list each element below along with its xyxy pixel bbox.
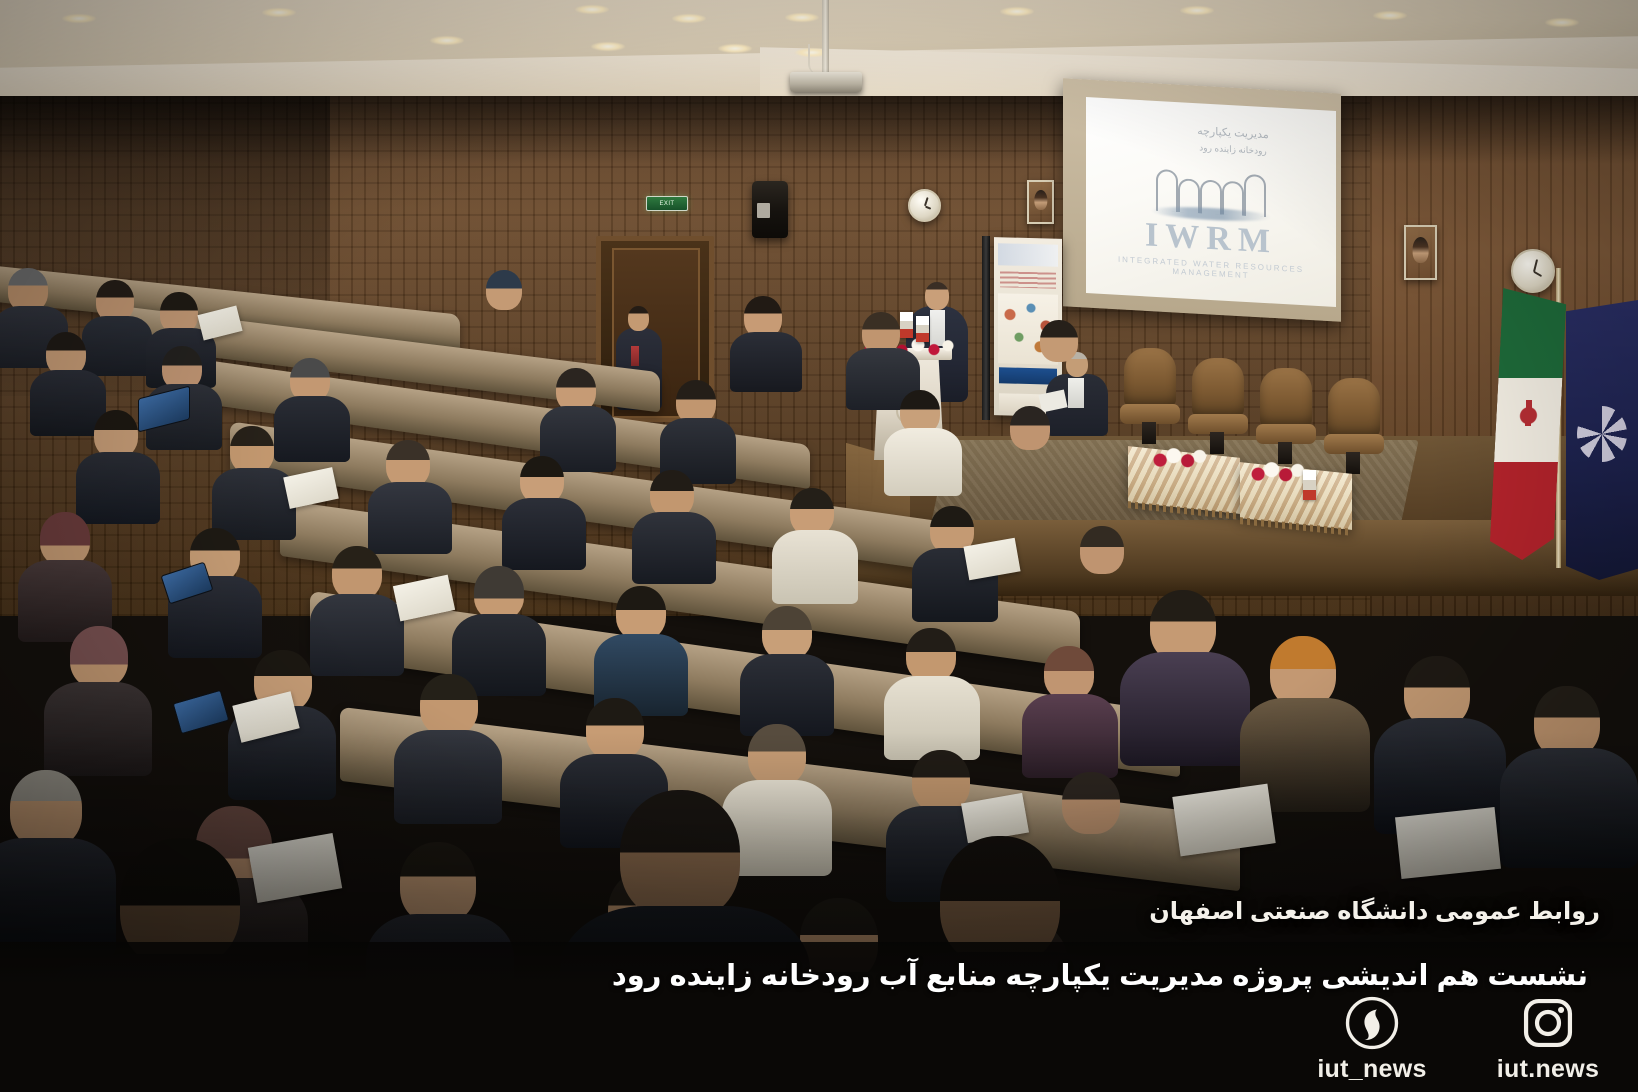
social-item-soroush[interactable]: iut_news xyxy=(1312,996,1432,1084)
iut-university-flag xyxy=(1566,300,1638,580)
audience-paper xyxy=(1172,784,1275,857)
audience-head xyxy=(400,842,476,924)
audience-head xyxy=(906,628,956,682)
social-item-instagram[interactable]: iut.news xyxy=(1488,996,1608,1084)
audience-body xyxy=(310,594,404,676)
soroush-icon[interactable] xyxy=(1345,996,1399,1050)
audience-body xyxy=(632,512,716,584)
audience-head-hijab xyxy=(70,626,128,688)
audience-head xyxy=(1080,526,1124,574)
audience-body xyxy=(730,332,802,392)
framed-portrait xyxy=(1404,225,1437,280)
downlight-icon xyxy=(62,14,96,23)
stage-chair xyxy=(1322,378,1386,474)
audience-head xyxy=(616,586,666,640)
audience-body xyxy=(1120,652,1250,766)
audience-body xyxy=(1500,748,1638,868)
audience-head xyxy=(1062,772,1120,834)
social-handles: iut_news iut.news xyxy=(1312,996,1608,1084)
audience-head xyxy=(762,606,812,660)
audience-body xyxy=(368,482,452,554)
audience-head xyxy=(1044,646,1094,700)
caption-bar: نشست هم اندیشی پروژه مدیریت یکپارچه مناب… xyxy=(0,942,1638,1092)
audience-head xyxy=(1010,406,1050,450)
audience-body xyxy=(1022,694,1118,778)
audience-head xyxy=(620,790,740,920)
audience-head xyxy=(790,488,834,536)
downlight-icon xyxy=(1373,11,1407,20)
downlight-icon xyxy=(1180,6,1214,15)
downlight-icon xyxy=(1545,18,1579,27)
audience-body xyxy=(0,838,116,958)
exit-sign: EXIT xyxy=(646,196,688,211)
audience-paper xyxy=(963,538,1020,581)
audience-body xyxy=(884,428,962,496)
photo-credit: روابط عمومی دانشگاه صنعتی اصفهان xyxy=(1149,897,1600,926)
framed-portrait xyxy=(1027,180,1054,224)
audience-body xyxy=(740,654,834,736)
audience-head xyxy=(486,270,522,310)
audience-body xyxy=(884,676,980,760)
audience-head xyxy=(10,770,82,848)
audience-head xyxy=(94,410,138,458)
audience-head xyxy=(1040,320,1078,362)
downlight-icon xyxy=(430,36,464,45)
wall-clock-icon xyxy=(908,189,941,222)
audience-body xyxy=(44,682,152,776)
ceiling-projector-icon xyxy=(790,72,862,92)
downlight-icon xyxy=(1000,7,1034,16)
audience-body xyxy=(82,316,152,376)
audience-head-hijab xyxy=(474,566,524,620)
downlight-icon xyxy=(575,5,609,14)
conference-photograph: EXIT مدیریت یکپارچه رودخانه زاینده رود xyxy=(0,0,1638,1092)
wall-speaker-icon xyxy=(752,181,788,238)
caption-headline: نشست هم اندیشی پروژه مدیریت یکپارچه مناب… xyxy=(612,958,1588,993)
audience-body xyxy=(76,452,160,524)
audience-body xyxy=(772,530,858,604)
downlight-icon xyxy=(718,44,752,53)
audience-body xyxy=(502,498,586,570)
stage-chair xyxy=(1186,358,1250,454)
audience-head xyxy=(386,440,430,488)
instagram-icon[interactable] xyxy=(1521,996,1575,1050)
audience-head xyxy=(586,698,644,760)
audience-head-hijab xyxy=(40,512,90,566)
audience-head xyxy=(748,724,806,786)
downlight-icon xyxy=(785,13,819,22)
downlight-icon xyxy=(262,8,296,17)
table-flag xyxy=(1303,470,1316,500)
wall-clock-icon xyxy=(1511,249,1555,293)
table-flower-arrangement xyxy=(1250,462,1304,484)
projector-cable xyxy=(808,44,822,74)
stage-chair xyxy=(1254,368,1318,464)
audience-paper xyxy=(1395,807,1501,879)
audience-head xyxy=(650,470,694,518)
audience-head xyxy=(230,426,274,474)
screenshot-root: EXIT مدیریت یکپارچه رودخانه زاینده رود xyxy=(0,0,1638,1092)
social-handle-soroush[interactable]: iut_news xyxy=(1317,1055,1426,1084)
audience-head xyxy=(420,674,478,736)
downlight-icon xyxy=(591,42,625,51)
audience-head xyxy=(332,546,382,600)
audience-body xyxy=(394,730,502,824)
social-handle-instagram[interactable]: iut.news xyxy=(1497,1055,1599,1084)
downlight-icon xyxy=(672,14,706,23)
projector-mount-pole xyxy=(822,0,829,74)
audience-body xyxy=(274,396,350,462)
audience-head xyxy=(520,456,564,504)
audience-tablet xyxy=(173,690,230,735)
